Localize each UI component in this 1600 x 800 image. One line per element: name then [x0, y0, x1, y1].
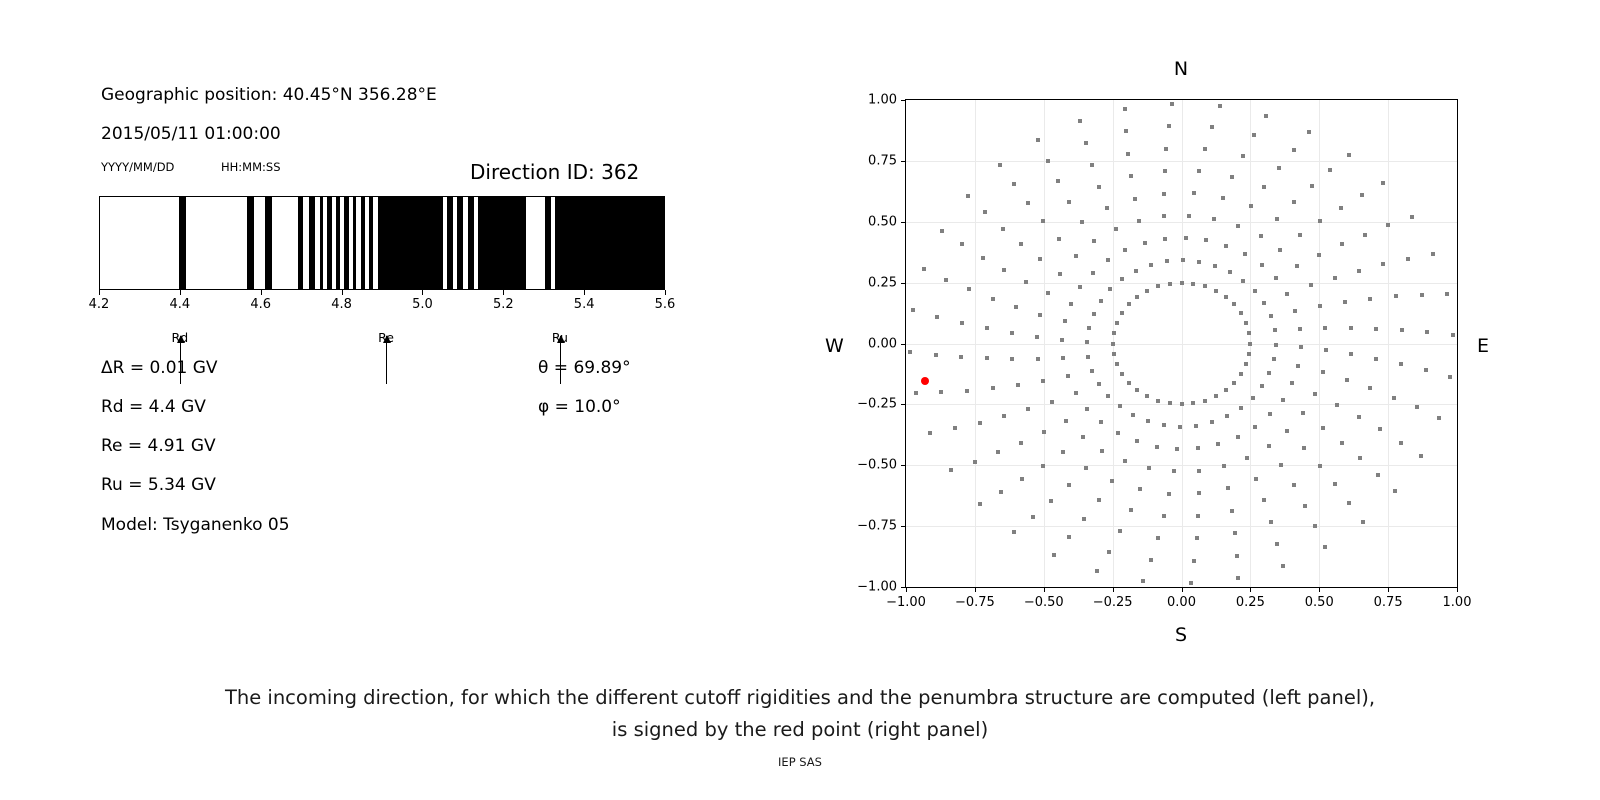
rigidity-marker-label-ru: Ru: [552, 330, 568, 345]
direction-point: [1180, 402, 1184, 406]
scatter-y-tick: [901, 283, 906, 284]
direction-point: [949, 468, 953, 472]
direction-point: [1321, 370, 1325, 374]
penumbra-band: [327, 197, 331, 289]
penumbra-band: [298, 197, 303, 289]
direction-point: [1081, 435, 1085, 439]
scatter-x-tick-label: 1.00: [1443, 595, 1472, 610]
direction-point: [1214, 394, 1218, 398]
direction-point: [1084, 466, 1088, 470]
direction-point: [1197, 491, 1201, 495]
direction-point: [1118, 529, 1122, 533]
direction-point: [1302, 446, 1306, 450]
scatter-y-tick-label: 0.25: [868, 275, 897, 290]
direction-point: [940, 229, 944, 233]
scatter-x-tick-label: −1.00: [886, 595, 926, 610]
direction-point: [1392, 396, 1396, 400]
direction-point: [1278, 248, 1282, 252]
penumbra-band: [378, 197, 443, 289]
direction-point: [1067, 483, 1071, 487]
direction-point: [1141, 579, 1145, 583]
direction-point: [1156, 536, 1160, 540]
scatter-x-tick-label: 0.75: [1374, 595, 1403, 610]
direction-point: [1058, 272, 1062, 276]
scatter-y-tick-label: 0.50: [868, 214, 897, 229]
direction-point: [1010, 331, 1014, 335]
direction-point: [1164, 147, 1168, 151]
direction-point: [1156, 399, 1160, 403]
direction-point: [1357, 415, 1361, 419]
direction-point: [1349, 326, 1353, 330]
direction-point: [1020, 477, 1024, 481]
direction-id-text: Direction ID: 362: [470, 160, 639, 184]
direction-point: [1097, 382, 1101, 386]
footer-text: IEP SAS: [0, 755, 1600, 769]
direction-point: [1347, 501, 1351, 505]
direction-point: [1061, 356, 1065, 360]
direction-point: [1120, 311, 1124, 315]
direction-point: [1175, 447, 1179, 451]
penumbra-x-axis: 4.24.44.64.85.05.25.45.6RdReRu: [99, 290, 665, 291]
direction-point: [1269, 314, 1273, 318]
direction-point: [1212, 217, 1216, 221]
direction-point: [1335, 403, 1339, 407]
direction-point: [1078, 285, 1082, 289]
direction-point: [1197, 260, 1201, 264]
scatter-y-tick-label: −1.00: [857, 580, 897, 595]
direction-point: [1292, 483, 1296, 487]
direction-point: [1026, 407, 1030, 411]
direction-point: [1106, 258, 1110, 262]
direction-point: [935, 315, 939, 319]
direction-point: [1203, 399, 1207, 403]
direction-point: [1168, 282, 1172, 286]
direction-point: [1197, 469, 1201, 473]
direction-point: [911, 308, 915, 312]
direction-point: [1406, 257, 1410, 261]
penumbra-x-tick-label: 4.6: [250, 297, 271, 312]
direction-point: [1218, 104, 1222, 108]
direction-point: [1247, 331, 1251, 335]
direction-point: [1230, 509, 1234, 513]
direction-point: [1349, 352, 1353, 356]
direction-point: [1317, 253, 1321, 257]
direction-point: [1099, 420, 1103, 424]
direction-point: [1235, 554, 1239, 558]
direction-point: [1149, 558, 1153, 562]
direction-point: [1046, 159, 1050, 163]
direction-point: [1374, 357, 1378, 361]
direction-point: [1224, 388, 1228, 392]
direction-point: [1239, 406, 1243, 410]
scatter-y-tick-label: 0.00: [868, 336, 897, 351]
direction-point: [1149, 263, 1153, 267]
time-format-hint: HH:MM:SS: [221, 160, 281, 174]
direction-point: [1339, 206, 1343, 210]
direction-point: [1415, 405, 1419, 409]
direction-point: [1090, 163, 1094, 167]
direction-point: [1092, 239, 1096, 243]
direction-point: [1146, 419, 1150, 423]
penumbra-x-tick-label: 4.4: [170, 297, 191, 312]
direction-point: [1105, 206, 1109, 210]
parameter-right-1: φ = 10.0°: [538, 397, 621, 417]
direction-point: [1298, 233, 1302, 237]
direction-point: [1253, 425, 1257, 429]
penumbra-bars: [100, 197, 664, 289]
direction-point: [1107, 550, 1111, 554]
direction-point: [1296, 364, 1300, 368]
direction-point: [1400, 328, 1404, 332]
direction-point: [978, 502, 982, 506]
direction-point: [1192, 559, 1196, 563]
direction-point: [1014, 305, 1018, 309]
direction-point: [1038, 313, 1042, 317]
direction-point: [1245, 456, 1249, 460]
compass-label-west: W: [825, 335, 844, 357]
direction-point: [1420, 293, 1424, 297]
penumbra-x-tick-label: 4.8: [331, 297, 352, 312]
scatter-x-tick: [1319, 587, 1320, 592]
penumbra-band: [361, 197, 365, 289]
direction-point: [1172, 469, 1176, 473]
direction-point: [1078, 119, 1082, 123]
penumbra-x-tick: [422, 290, 423, 295]
direction-point: [1156, 284, 1160, 288]
direction-point: [1002, 268, 1006, 272]
scatter-y-tick-label: 0.75: [868, 153, 897, 168]
direction-point: [1016, 383, 1020, 387]
direction-point: [1230, 175, 1234, 179]
direction-point: [1115, 362, 1119, 366]
direction-point: [1090, 369, 1094, 373]
direction-point: [1050, 400, 1054, 404]
direction-point: [1267, 371, 1271, 375]
direction-point: [1232, 302, 1236, 306]
direction-point: [1268, 412, 1272, 416]
penumbra-band: [247, 197, 254, 289]
direction-point: [1228, 270, 1232, 274]
direction-point: [1092, 312, 1096, 316]
direction-point: [1124, 129, 1128, 133]
direction-point: [1061, 450, 1065, 454]
direction-point: [1295, 264, 1299, 268]
direction-point: [1170, 102, 1174, 106]
direction-point: [1189, 581, 1193, 585]
direction-point: [1239, 311, 1243, 315]
direction-point: [1080, 220, 1084, 224]
direction-point: [1310, 184, 1314, 188]
direction-point: [1031, 515, 1035, 519]
direction-point: [1129, 508, 1133, 512]
direction-point: [1187, 214, 1191, 218]
direction-point: [1381, 262, 1385, 266]
direction-point: [1181, 258, 1185, 262]
direction-point: [1239, 372, 1243, 376]
direction-point: [1451, 333, 1455, 337]
direction-point: [1138, 487, 1142, 491]
penumbra-x-tick-label: 5.0: [412, 297, 433, 312]
penumbra-chart: [99, 196, 665, 290]
direction-point: [928, 431, 932, 435]
direction-point: [1001, 227, 1005, 231]
direction-point: [1165, 259, 1169, 263]
parameter-left-4: Model: Tsyganenko 05: [101, 515, 290, 535]
direction-point: [1056, 179, 1060, 183]
direction-point: [985, 356, 989, 360]
direction-point: [1120, 372, 1124, 376]
direction-point: [1275, 542, 1279, 546]
direction-point: [1309, 283, 1313, 287]
direction-point: [1290, 381, 1294, 385]
direction-point: [1345, 378, 1349, 382]
direction-point: [1303, 504, 1307, 508]
scatter-y-tick: [901, 344, 906, 345]
direction-point: [1074, 254, 1078, 258]
penumbra-band: [545, 197, 551, 289]
direction-point: [1267, 444, 1271, 448]
direction-point: [1106, 394, 1110, 398]
direction-point: [1167, 124, 1171, 128]
direction-point: [999, 490, 1003, 494]
scatter-x-tick: [906, 587, 907, 592]
direction-point: [1244, 321, 1248, 325]
direction-point: [991, 386, 995, 390]
direction-point: [1097, 185, 1101, 189]
direction-point: [1041, 219, 1045, 223]
direction-point: [1281, 398, 1285, 402]
direction-point: [1269, 520, 1273, 524]
caption-line-2: is signed by the red point (right panel): [0, 718, 1600, 741]
direction-point: [1226, 486, 1230, 490]
direction-point: [953, 426, 957, 430]
direction-scatter-chart: −1.00−0.75−0.50−0.250.000.250.500.751.00…: [905, 99, 1458, 588]
parameter-left-2: Re = 4.91 GV: [101, 436, 216, 456]
direction-point: [1135, 439, 1139, 443]
scatter-y-tick: [901, 465, 906, 466]
scatter-points: [906, 100, 1457, 587]
compass-label-north: N: [1174, 58, 1188, 80]
direction-point: [959, 355, 963, 359]
direction-point: [1052, 553, 1056, 557]
penumbra-x-tick-label: 5.4: [574, 297, 595, 312]
direction-point: [1293, 309, 1297, 313]
direction-point: [1112, 331, 1116, 335]
direction-point: [1099, 299, 1103, 303]
direction-point: [1046, 291, 1050, 295]
direction-point: [1085, 340, 1089, 344]
direction-point: [1191, 282, 1195, 286]
direction-point: [1134, 269, 1138, 273]
direction-point: [998, 163, 1002, 167]
direction-point: [1368, 386, 1372, 390]
direction-point: [1216, 442, 1220, 446]
direction-point: [1210, 125, 1214, 129]
direction-point: [1012, 182, 1016, 186]
direction-point: [1135, 295, 1139, 299]
direction-point: [1137, 219, 1141, 223]
direction-point: [934, 353, 938, 357]
rigidity-marker-label-rd: Rd: [172, 330, 189, 345]
direction-point: [1123, 459, 1127, 463]
penumbra-band: [336, 197, 340, 289]
direction-point: [1195, 536, 1199, 540]
direction-point: [1247, 352, 1251, 356]
direction-point: [985, 326, 989, 330]
direction-point: [1323, 545, 1327, 549]
direction-point: [1244, 362, 1248, 366]
direction-point: [1131, 413, 1135, 417]
direction-point: [1063, 319, 1067, 323]
direction-point: [1167, 492, 1171, 496]
penumbra-band: [478, 197, 526, 289]
penumbra-band: [320, 197, 324, 289]
direction-point: [944, 278, 948, 282]
scatter-x-tick-label: 0.25: [1236, 595, 1265, 610]
direction-point: [1272, 357, 1276, 361]
direction-point: [1100, 449, 1104, 453]
direction-point: [1224, 244, 1228, 248]
direction-point: [1024, 280, 1028, 284]
direction-point: [1378, 427, 1382, 431]
parameter-right-0: θ = 69.89°: [538, 358, 631, 378]
direction-point: [1298, 327, 1302, 331]
direction-point: [1431, 252, 1435, 256]
direction-point: [1204, 238, 1208, 242]
direction-point: [1313, 524, 1317, 528]
direction-point: [1120, 277, 1124, 281]
direction-point: [1074, 391, 1078, 395]
direction-point: [1363, 233, 1367, 237]
direction-point: [1274, 276, 1278, 280]
direction-point: [939, 390, 943, 394]
direction-point: [1275, 217, 1279, 221]
direction-point: [1299, 345, 1303, 349]
direction-point: [1259, 234, 1263, 238]
direction-point: [1049, 499, 1053, 503]
direction-point: [1292, 148, 1296, 152]
direction-point: [1012, 530, 1016, 534]
penumbra-x-tick-label: 5.2: [493, 297, 514, 312]
direction-point: [1155, 445, 1159, 449]
penumbra-band: [369, 197, 373, 289]
direction-point: [981, 256, 985, 260]
direction-point: [1262, 185, 1266, 189]
direction-point: [1333, 482, 1337, 486]
selected-direction-point[interactable]: [921, 377, 929, 385]
direction-point: [1410, 215, 1414, 219]
direction-point: [996, 450, 1000, 454]
direction-point: [1203, 284, 1207, 288]
scatter-x-tick: [1388, 587, 1389, 592]
direction-point: [1192, 191, 1196, 195]
scatter-x-tick: [1113, 587, 1114, 592]
direction-point: [1424, 368, 1428, 372]
direction-point: [1281, 564, 1285, 568]
parameter-left-3: Ru = 5.34 GV: [101, 475, 216, 495]
direction-point: [1260, 384, 1264, 388]
penumbra-x-tick: [665, 290, 666, 295]
scatter-x-tick: [1044, 587, 1045, 592]
direction-point: [1135, 388, 1139, 392]
direction-point: [1399, 362, 1403, 366]
direction-point: [1292, 200, 1296, 204]
direction-point: [1197, 169, 1201, 173]
direction-point: [1163, 169, 1167, 173]
direction-point: [983, 210, 987, 214]
direction-point: [1123, 107, 1127, 111]
direction-point: [1069, 302, 1073, 306]
direction-point: [1360, 193, 1364, 197]
direction-point: [1086, 355, 1090, 359]
direction-point: [1111, 342, 1115, 346]
direction-point: [1253, 289, 1257, 293]
direction-point: [1082, 517, 1086, 521]
direction-point: [1254, 477, 1258, 481]
direction-point: [1210, 420, 1214, 424]
direction-point: [978, 421, 982, 425]
direction-point: [1448, 375, 1452, 379]
direction-point: [1042, 430, 1046, 434]
direction-point: [1091, 271, 1095, 275]
scatter-y-tick: [901, 161, 906, 162]
scatter-y-tick-label: 1.00: [868, 93, 897, 108]
direction-point: [1019, 242, 1023, 246]
penumbra-x-tick: [180, 290, 181, 295]
direction-point: [1386, 223, 1390, 227]
direction-point: [1340, 242, 1344, 246]
direction-point: [1262, 498, 1266, 502]
direction-point: [1002, 414, 1006, 418]
direction-point: [1399, 441, 1403, 445]
direction-point: [1019, 441, 1023, 445]
penumbra-x-tick: [342, 290, 343, 295]
direction-point: [1196, 446, 1200, 450]
direction-point: [1324, 348, 1328, 352]
direction-point: [1038, 257, 1042, 261]
direction-point: [1262, 301, 1266, 305]
direction-point: [1274, 343, 1278, 347]
datetime-text: 2015/05/11 01:00:00: [101, 124, 281, 144]
scatter-x-tick: [1457, 587, 1458, 592]
direction-point: [1213, 264, 1217, 268]
direction-point: [1224, 295, 1228, 299]
direction-point: [1168, 401, 1172, 405]
direction-point: [1041, 464, 1045, 468]
direction-point: [1191, 401, 1195, 405]
direction-point: [1307, 130, 1311, 134]
direction-point: [922, 267, 926, 271]
direction-point: [1060, 338, 1064, 342]
direction-point: [1145, 289, 1149, 293]
direction-point: [1123, 248, 1127, 252]
penumbra-band: [265, 197, 272, 289]
direction-point: [1285, 292, 1289, 296]
direction-point: [1127, 381, 1131, 385]
direction-point: [1313, 392, 1317, 396]
scatter-x-tick-label: −0.75: [955, 595, 995, 610]
direction-point: [1180, 281, 1184, 285]
direction-point: [1035, 335, 1039, 339]
caption-line-1: The incoming direction, for which the di…: [0, 686, 1600, 709]
direction-point: [1425, 330, 1429, 334]
direction-point: [1162, 514, 1166, 518]
direction-point: [960, 321, 964, 325]
direction-point: [1110, 479, 1114, 483]
direction-point: [1347, 153, 1351, 157]
direction-point: [1358, 456, 1362, 460]
direction-point: [1097, 498, 1101, 502]
